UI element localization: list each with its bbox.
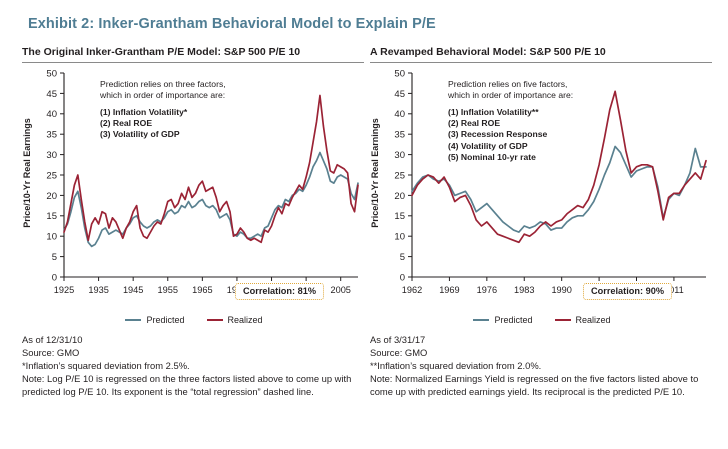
factor-item: (1) Inflation Volatility** (448, 107, 573, 118)
panel-revamped-model: A Revamped Behavioral Model: S&P 500 P/E… (370, 46, 712, 442)
legend-swatch-predicted-icon (473, 319, 489, 321)
note-footnote: **Inflation’s squared deviation from 2.0… (370, 360, 712, 373)
factor-item: (4) Volatility of GDP (448, 141, 573, 152)
svg-text:45: 45 (394, 89, 405, 100)
svg-text:45: 45 (46, 89, 57, 100)
svg-text:1976: 1976 (477, 285, 497, 295)
svg-text:25: 25 (394, 170, 405, 181)
panel-divider-rule (370, 62, 712, 63)
svg-text:50: 50 (46, 68, 57, 79)
svg-text:30: 30 (394, 150, 405, 161)
svg-text:25: 25 (46, 170, 57, 181)
svg-text:20: 20 (394, 191, 405, 202)
legend-label-predicted: Predicted (494, 315, 532, 325)
svg-text:50: 50 (394, 68, 405, 79)
legend-entry-realized: Realized (555, 315, 611, 325)
panel-title: The Original Inker-Grantham P/E Model: S… (22, 46, 364, 62)
panel-original-model: The Original Inker-Grantham P/E Model: S… (22, 46, 364, 442)
svg-text:20: 20 (46, 191, 57, 202)
svg-text:1983: 1983 (514, 285, 534, 295)
factors-annotation: Prediction relies on three factors,which… (100, 79, 226, 141)
svg-text:10: 10 (394, 232, 405, 243)
correlation-badge: Correlation: 81% (235, 283, 324, 300)
legend-label-realized: Realized (576, 315, 611, 325)
svg-text:1990: 1990 (551, 285, 571, 295)
svg-text:35: 35 (46, 130, 57, 141)
svg-text:1962: 1962 (402, 285, 422, 295)
chart-revamped-model: Price/10-Yr Real Earnings 05101520253035… (370, 65, 712, 315)
factor-item: (3) Recession Response (448, 129, 573, 140)
legend-swatch-predicted-icon (125, 319, 141, 321)
svg-text:1935: 1935 (88, 285, 108, 295)
note-method: Note: Log P/E 10 is regressed on the thr… (22, 373, 364, 399)
svg-text:40: 40 (46, 109, 57, 120)
note-as-of: As of 3/31/17 (370, 334, 712, 347)
factor-item: (1) Inflation Volatility* (100, 107, 226, 118)
panel-divider-rule (22, 62, 364, 63)
legend-swatch-realized-icon (207, 319, 223, 321)
svg-text:2005: 2005 (330, 285, 350, 295)
chart-legend: Predicted Realized (382, 315, 702, 325)
legend-label-realized: Realized (228, 315, 263, 325)
panel-title: A Revamped Behavioral Model: S&P 500 P/E… (370, 46, 712, 62)
factors-lead-line-1: Prediction relies on three factors, (100, 79, 226, 90)
note-source: Source: GMO (370, 347, 712, 360)
svg-text:1969: 1969 (439, 285, 459, 295)
factors-annotation: Prediction relies on five factors,which … (448, 79, 573, 163)
legend-entry-predicted: Predicted (125, 315, 184, 325)
panel-notes: As of 3/31/17 Source: GMO **Inflation’s … (370, 334, 712, 399)
svg-text:1945: 1945 (123, 285, 143, 295)
factor-item: (2) Real ROE (100, 118, 226, 129)
legend-entry-realized: Realized (207, 315, 263, 325)
svg-text:0: 0 (52, 272, 57, 283)
svg-text:10: 10 (46, 232, 57, 243)
correlation-badge: Correlation: 90% (583, 283, 672, 300)
factor-item: (3) Volatility of GDP (100, 129, 226, 140)
svg-text:0: 0 (400, 272, 405, 283)
factors-lead-line-1: Prediction relies on five factors, (448, 79, 573, 90)
y-axis-label: Price/10-Yr Real Earnings (368, 65, 382, 280)
y-axis-label: Price/10-Yr Real Earnings (20, 65, 34, 280)
exhibit-title: Exhibit 2: Inker-Grantham Behavioral Mod… (28, 16, 436, 32)
svg-text:15: 15 (394, 211, 405, 222)
note-method: Note: Normalized Earnings Yield is regre… (370, 373, 712, 399)
factors-lead-line-2: which in order of importance are: (448, 90, 573, 101)
factors-lead-line-2: which in order of importance are: (100, 90, 226, 101)
chart-original-model: Price/10-Yr Real Earnings 05101520253035… (22, 65, 364, 315)
svg-text:5: 5 (52, 252, 57, 263)
svg-text:15: 15 (46, 211, 57, 222)
factor-item: (5) Nominal 10-yr rate (448, 152, 573, 163)
svg-text:1925: 1925 (54, 285, 74, 295)
legend-swatch-realized-icon (555, 319, 571, 321)
svg-text:5: 5 (400, 252, 405, 263)
svg-text:1965: 1965 (192, 285, 212, 295)
legend-label-predicted: Predicted (146, 315, 184, 325)
note-footnote: *Inflation’s squared deviation from 2.5%… (22, 360, 364, 373)
svg-text:1955: 1955 (158, 285, 178, 295)
panel-notes: As of 12/31/10 Source: GMO *Inflation’s … (22, 334, 364, 399)
svg-text:40: 40 (394, 109, 405, 120)
chart-legend: Predicted Realized (34, 315, 354, 325)
svg-text:30: 30 (46, 150, 57, 161)
note-as-of: As of 12/31/10 (22, 334, 364, 347)
factor-item: (2) Real ROE (448, 118, 573, 129)
legend-entry-predicted: Predicted (473, 315, 532, 325)
note-source: Source: GMO (22, 347, 364, 360)
svg-text:35: 35 (394, 130, 405, 141)
